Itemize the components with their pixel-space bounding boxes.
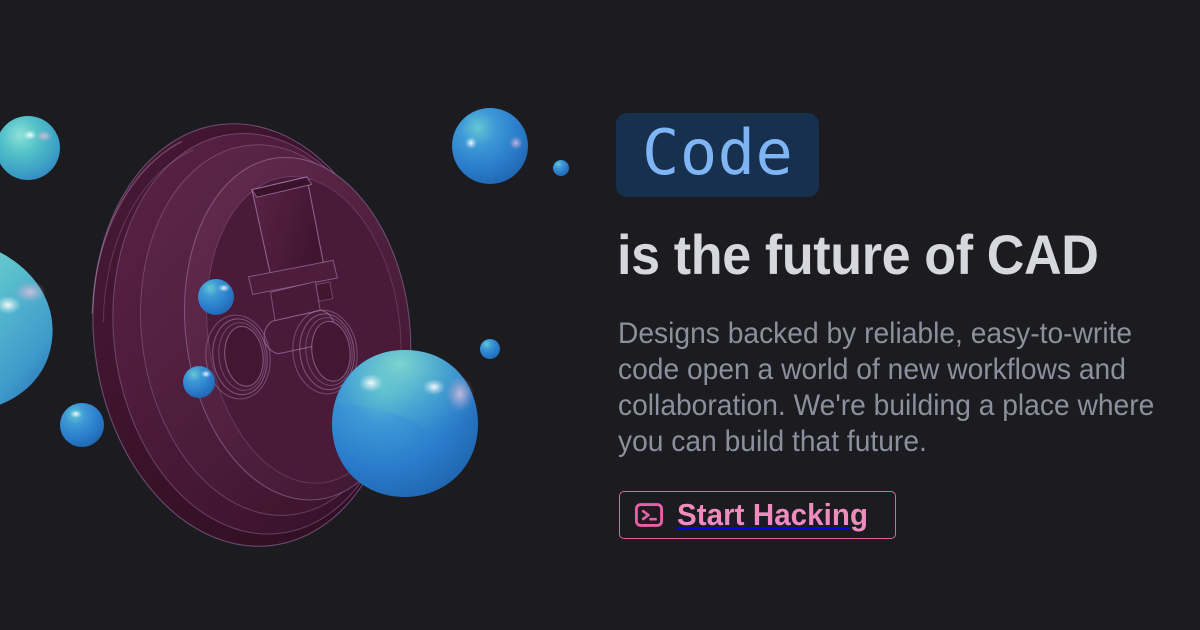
cad-render-artwork (0, 0, 600, 630)
page-title: is the future of CAD (617, 222, 1099, 287)
sphere-on-face-lower (183, 366, 215, 398)
code-badge-label: Code (642, 122, 793, 184)
sphere-dot-upper (553, 160, 569, 176)
sphere-upper-mid (452, 108, 528, 184)
hero-description: Designs backed by reliable, easy-to-writ… (618, 316, 1163, 460)
code-badge: Code (616, 113, 819, 197)
sphere-large-lower (332, 350, 478, 497)
terminal-icon (634, 500, 664, 530)
sphere-left-blob (0, 237, 53, 413)
sphere-dot-mid (480, 339, 500, 359)
start-hacking-label: Start Hacking (677, 497, 868, 533)
start-hacking-button[interactable]: Start Hacking (619, 491, 896, 539)
sphere-on-face-upper (198, 279, 234, 315)
hero-content: Code is the future of CAD Designs backed… (616, 0, 1200, 630)
sphere-top-left-edge (0, 116, 60, 180)
sphere-left-small (60, 403, 104, 447)
hero-banner: Code is the future of CAD Designs backed… (0, 0, 1200, 630)
